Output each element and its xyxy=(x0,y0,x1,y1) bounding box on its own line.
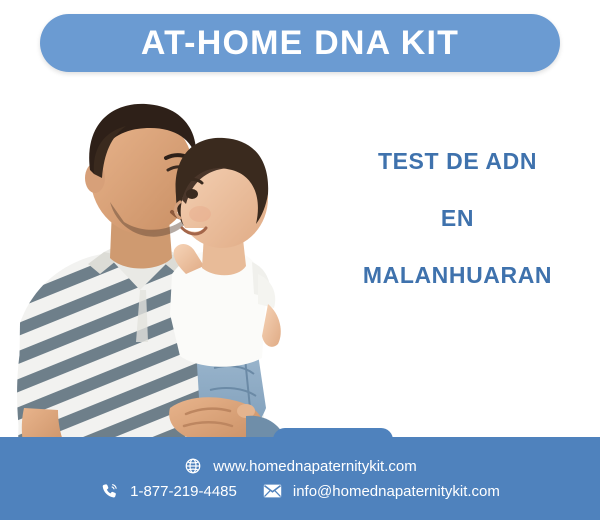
globe-icon xyxy=(183,457,202,476)
email-item[interactable]: info@homednapaternitykit.com xyxy=(263,482,500,501)
envelope-icon xyxy=(263,482,282,501)
footer-row-website: www.homednapaternitykit.com xyxy=(0,457,600,476)
headline-line-1: TEST DE ADN xyxy=(320,150,595,173)
email-address: info@homednapaternitykit.com xyxy=(293,484,500,499)
headline-line-3: MALANHUARAN xyxy=(320,264,595,287)
poster-canvas: AT-HOME DNA KIT xyxy=(0,0,600,520)
website-url: www.homednapaternitykit.com xyxy=(213,459,416,474)
family-photo-illustration xyxy=(0,78,330,453)
footer-row-phone-email: 1-877-219-4485 info@homednapaternitykit.… xyxy=(0,482,600,501)
footer-bar: www.homednapaternitykit.com 1-877-219-44… xyxy=(0,437,600,520)
page-title: AT-HOME DNA KIT xyxy=(141,26,459,60)
footer-contact-rows: www.homednapaternitykit.com 1-877-219-44… xyxy=(0,437,600,520)
headline-line-2: EN xyxy=(320,207,595,230)
phone-icon xyxy=(100,482,119,501)
website-item[interactable]: www.homednapaternitykit.com xyxy=(183,457,416,476)
phone-item[interactable]: 1-877-219-4485 xyxy=(100,482,237,501)
header-banner: AT-HOME DNA KIT xyxy=(40,14,560,72)
headline-block: TEST DE ADN EN MALANHUARAN xyxy=(320,150,595,287)
phone-number: 1-877-219-4485 xyxy=(130,484,237,499)
family-photo xyxy=(0,78,330,453)
